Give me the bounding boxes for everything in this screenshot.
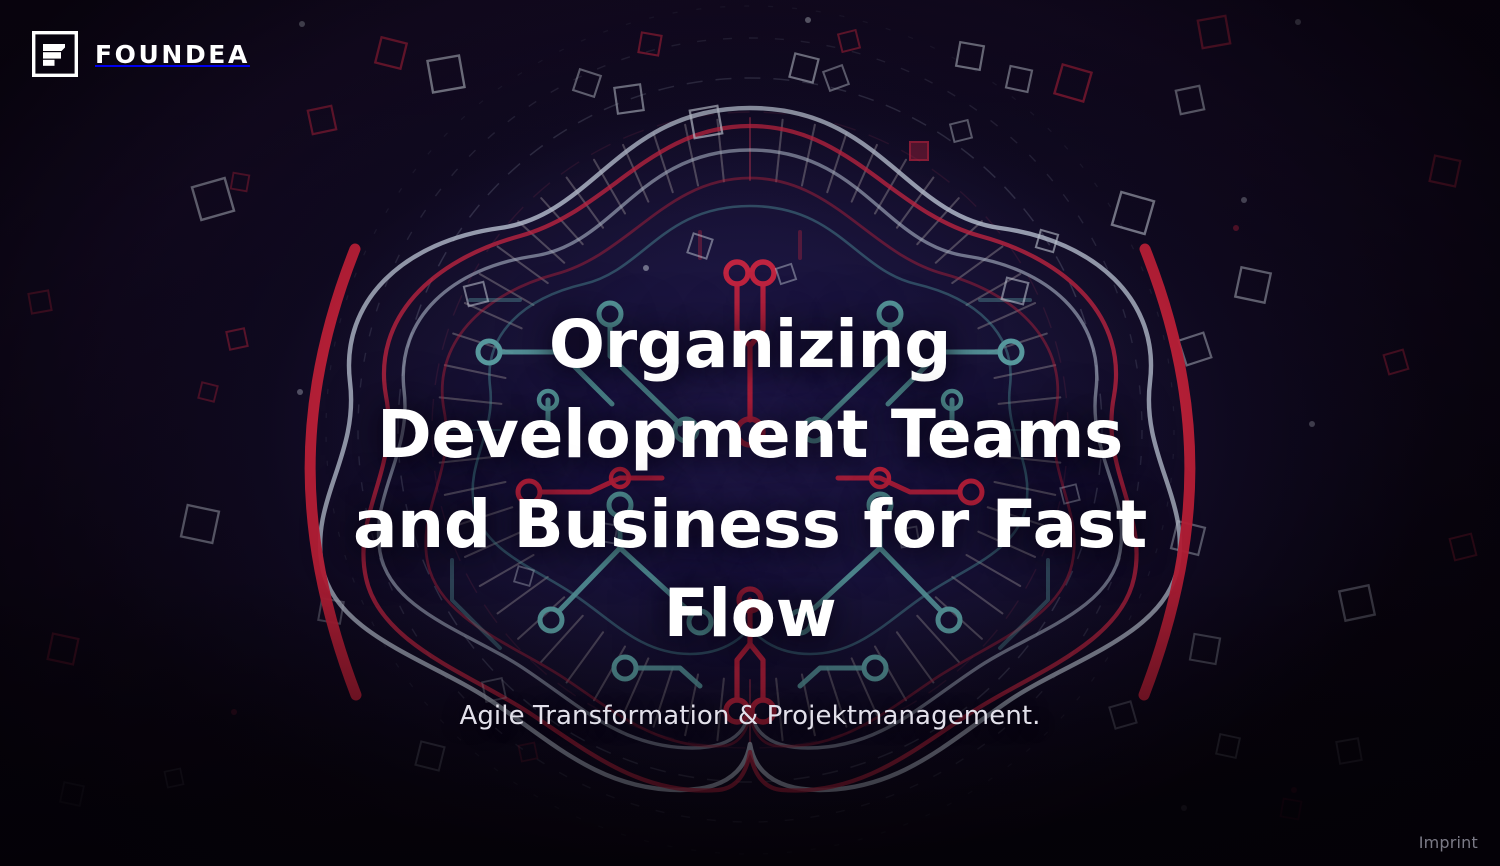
hero-subtitle: Agile Transformation & Projektmanagement… xyxy=(190,699,1310,734)
document-lines-square-icon xyxy=(32,31,78,77)
brand-name: FOUNDEA xyxy=(95,42,250,67)
page-title: Organizing Development Teams and Busines… xyxy=(300,300,1200,659)
brand-logo[interactable]: FOUNDEA xyxy=(32,31,250,77)
imprint-link[interactable]: Imprint xyxy=(1419,833,1478,852)
hero-content: Organizing Development Teams and Busines… xyxy=(0,300,1500,734)
hero-page: FOUNDEA Organizing Development Teams and… xyxy=(0,0,1500,866)
